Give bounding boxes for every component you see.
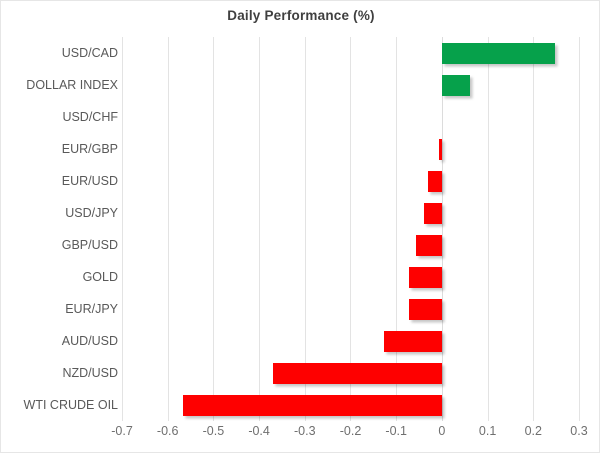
gridline [122,37,123,421]
x-axis-tick-label: -0.5 [203,425,225,438]
x-axis-tick-label: -0.7 [111,425,133,438]
gridline [213,37,214,421]
category-axis: USD/CADDOLLAR INDEXUSD/CHFEUR/GBPEUR/USD… [1,37,118,421]
bar-eur-usd [428,171,442,192]
bar-eur-jpy [409,299,442,320]
x-axis-tick-label: 0.3 [570,425,587,438]
x-axis-tick-label: -0.3 [294,425,316,438]
x-axis-tick-label: -0.2 [340,425,362,438]
gridline [259,37,260,421]
category-label: NZD/USD [1,367,118,380]
category-label: GBP/USD [1,239,118,252]
x-axis-tick-label: 0.1 [479,425,496,438]
x-axis-tick-label: -0.1 [385,425,407,438]
bar-usd-jpy [424,203,442,224]
category-label: EUR/USD [1,175,118,188]
x-axis-tick-label: -0.6 [157,425,179,438]
bar-usd-cad [442,43,555,64]
category-label: WTI CRUDE OIL [1,399,118,412]
category-label: DOLLAR INDEX [1,79,118,92]
category-label: AUD/USD [1,335,118,348]
category-label: EUR/GBP [1,143,118,156]
category-label: EUR/JPY [1,303,118,316]
gridline [488,37,489,421]
bar-eur-gbp [439,139,442,160]
x-axis-tick-label: 0.2 [525,425,542,438]
bar-gold [409,267,442,288]
gridline [533,37,534,421]
bar-gbp-usd [416,235,442,256]
value-axis: -0.7-0.6-0.5-0.4-0.3-0.2-0.100.10.20.3 [122,425,579,447]
bar-nzd-usd [273,363,442,384]
gridline [579,37,580,421]
plot-area [122,37,579,421]
category-label: USD/JPY [1,207,118,220]
category-label: GOLD [1,271,118,284]
x-axis-tick-label: 0 [438,425,445,438]
category-label: USD/CAD [1,47,118,60]
bar-aud-usd [384,331,442,352]
gridline [168,37,169,421]
x-axis-tick-label: -0.4 [248,425,270,438]
chart-title: Daily Performance (%) [1,8,600,23]
bar-wti-crude-oil [183,395,442,416]
category-label: USD/CHF [1,111,118,124]
bar-dollar-index [442,75,470,96]
daily-performance-chart: Daily Performance (%) USD/CADDOLLAR INDE… [0,0,600,453]
